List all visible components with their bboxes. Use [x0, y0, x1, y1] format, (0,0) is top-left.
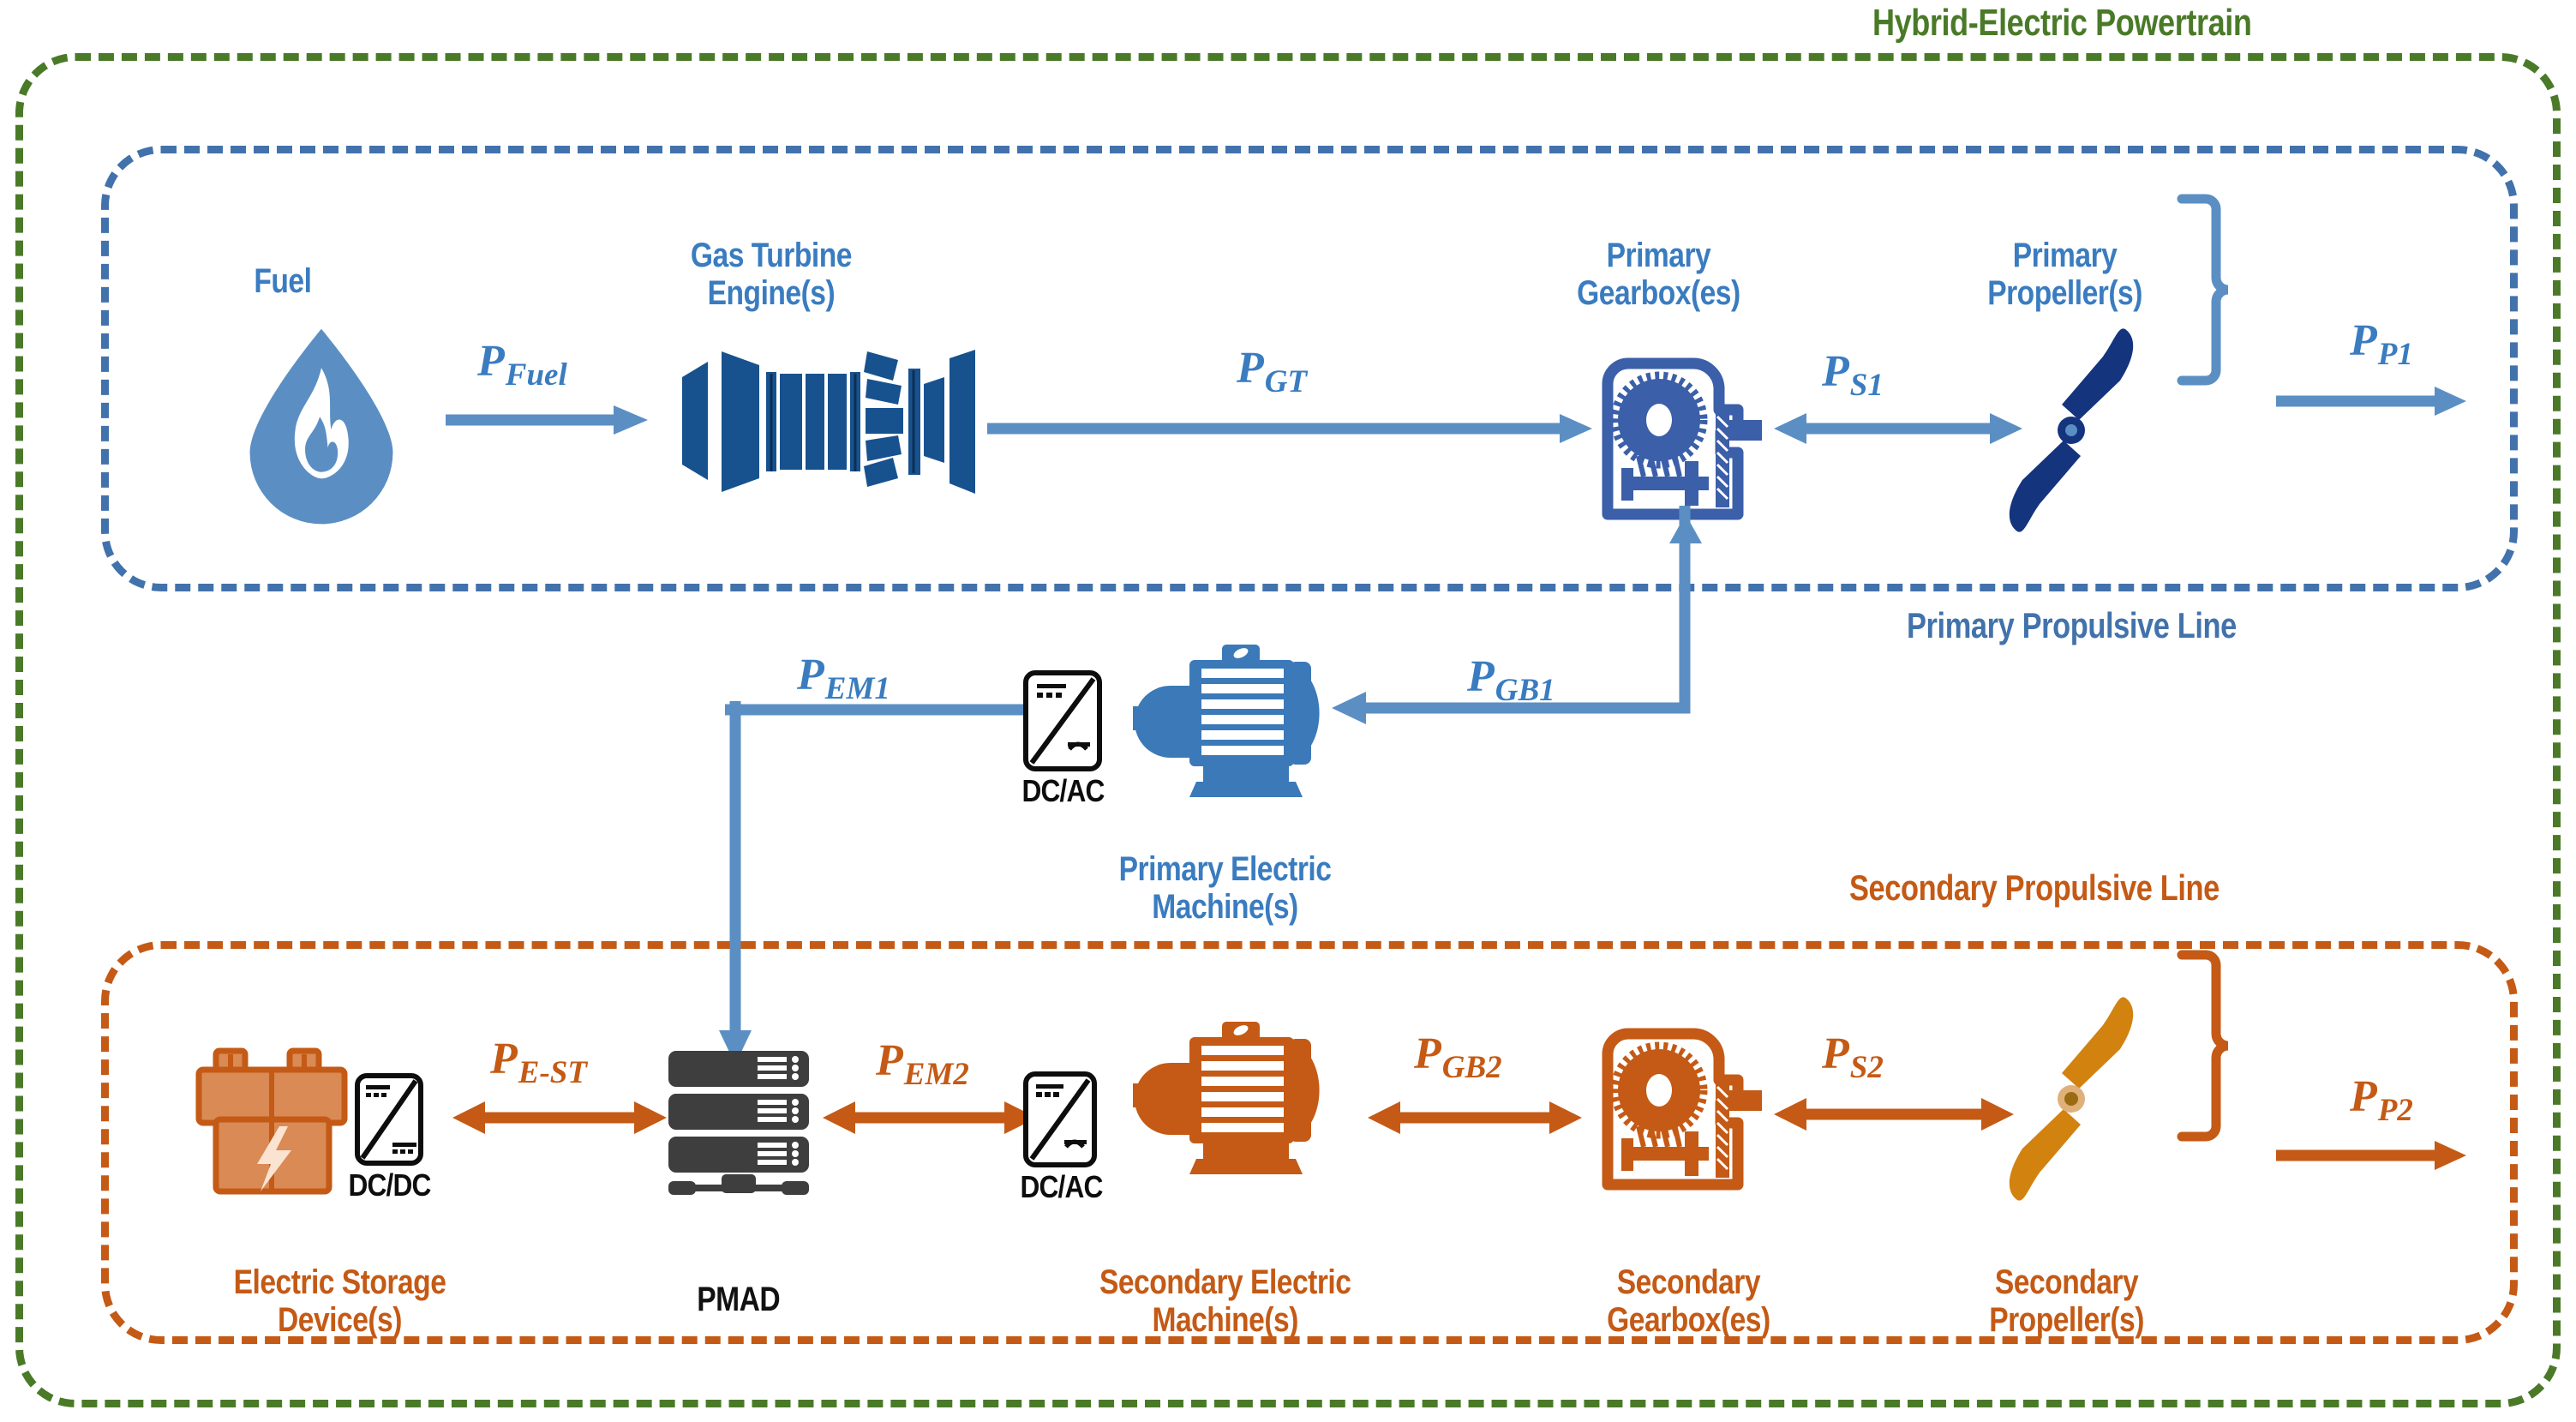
flow-label-p-em2: PEM2: [876, 1035, 968, 1086]
flow-label-p-gb2: PGB2: [1414, 1029, 1501, 1079]
label-gas-turbine: Gas Turbine Engine(s): [600, 199, 943, 312]
label-primary-propeller: Primary Propeller(s): [1902, 199, 2228, 312]
label-electric-storage: Electric Storage Device(s): [151, 1226, 528, 1339]
flow-label-p-p1: PP1: [2350, 315, 2412, 366]
secondary-line-title: Secondary Propulsive Line: [1849, 867, 2220, 909]
converter-icon-dcdc: [355, 1073, 423, 1166]
converter-label-dcac-primary: DC/AC: [977, 773, 1148, 809]
flow-label-p-p2: PP2: [2350, 1071, 2412, 1122]
inverter-icon-secondary: [1023, 1071, 1097, 1167]
page-title: Hybrid-Electric Powertrain: [1872, 2, 2251, 45]
converter-label-dcac-secondary: DC/AC: [975, 1169, 1147, 1205]
inverter-icon-primary: [1023, 670, 1102, 771]
primary-line-title: Primary Propulsive Line: [1907, 605, 2237, 646]
label-primary-electric-machine: Primary Electric Machine(s): [1011, 813, 1440, 926]
flow-label-p-gb1: PGB1: [1467, 651, 1555, 702]
flow-label-p-s1: PS1: [1822, 346, 1883, 397]
label-pmad: PMAD: [636, 1243, 842, 1318]
converter-label-dcdc: DC/DC: [303, 1167, 475, 1203]
flow-label-p-em1: PEM1: [797, 650, 890, 700]
label-primary-gearbox: Primary Gearbox(es): [1495, 199, 1821, 312]
flow-label-p-gt: PGT: [1237, 343, 1306, 393]
label-fuel: Fuel: [171, 225, 394, 300]
flow-label-p-fuel: PFuel: [477, 336, 566, 387]
flow-label-p-s2: PS2: [1822, 1029, 1883, 1079]
label-secondary-propeller: Secondary Propeller(s): [1904, 1226, 2230, 1339]
label-secondary-gearbox: Secondary Gearbox(es): [1525, 1226, 1851, 1339]
label-secondary-electric-machine: Secondary Electric Machine(s): [994, 1226, 1457, 1339]
diagram-canvas: Hybrid-Electric Powertrain Primary Propu…: [0, 0, 2576, 1422]
flow-label-p-e-st: PE-ST: [490, 1034, 586, 1084]
